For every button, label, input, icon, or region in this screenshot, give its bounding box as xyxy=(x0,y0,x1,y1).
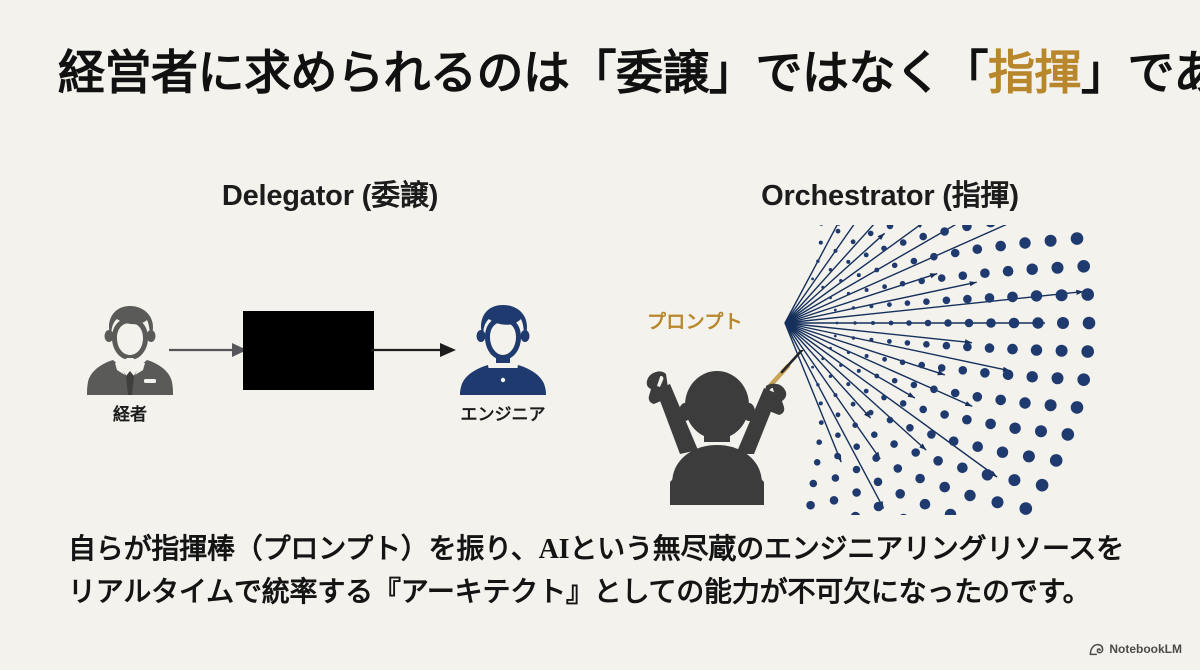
notebooklm-watermark: NotebookLM xyxy=(1089,642,1182,656)
column-heading-delegator: Delegator (委譲) xyxy=(110,172,550,214)
column-heading-orchestrator: Orchestrator (指揮) xyxy=(660,172,1120,214)
page-title-highlight: 指揮 xyxy=(988,48,1081,100)
notebooklm-label: NotebookLM xyxy=(1109,642,1182,656)
body-paragraph: 自らが指揮棒（プロンプト）を振り、AIという無尽蔵のエンジニアリングリソースを … xyxy=(68,528,1158,615)
notebooklm-mark-icon xyxy=(1089,643,1104,656)
conductor-silhouette-icon xyxy=(630,350,840,505)
body-line-2: リアルタイムで統率する『アーキテクト』としての能力が不可欠になったのです。 xyxy=(68,571,1158,614)
arrow-right-dark-icon xyxy=(371,337,457,363)
body-line-1: 自らが指揮棒（プロンプト）を振り、AIという無尽蔵のエンジニアリングリソースを xyxy=(68,528,1158,571)
caption-engineer: エンジニア xyxy=(433,400,573,425)
businessman-icon xyxy=(82,303,178,395)
page-title-part-2: 」である。 xyxy=(1081,48,1200,100)
redaction-black-box xyxy=(243,311,374,390)
slide-canvas: 経営者に求められるのは「委譲」ではなく「指揮」である。 Delegator (委… xyxy=(0,0,1200,670)
caption-executive: 経者 xyxy=(60,400,200,425)
page-title: 経営者に求められるのは「委譲」ではなく「指揮」である。 xyxy=(58,48,1158,101)
arrow-right-gray-icon xyxy=(168,337,248,363)
prompt-label: プロンプト xyxy=(647,307,743,334)
page-title-part-1: 経営者に求められるのは「委譲」ではなく「 xyxy=(58,48,988,100)
baton-icon xyxy=(768,350,840,388)
engineer-laptop-icon xyxy=(455,303,551,395)
